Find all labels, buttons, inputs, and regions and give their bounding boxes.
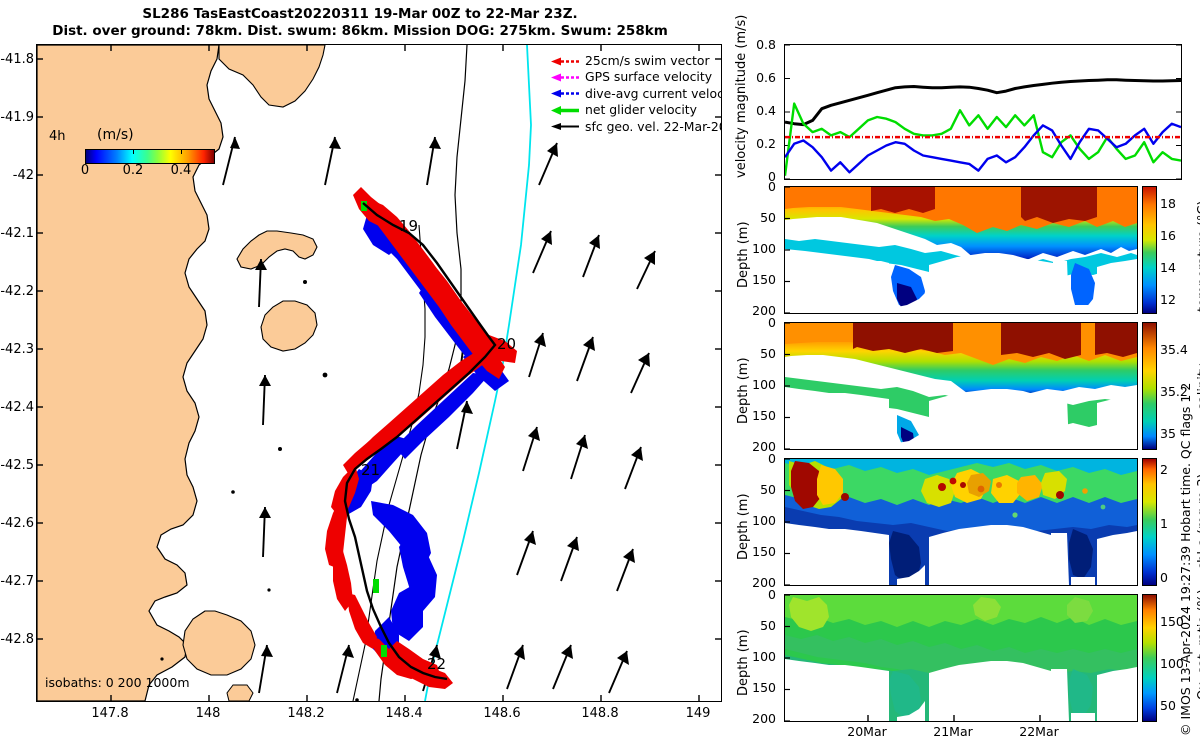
lon-tick-label: 148 xyxy=(178,706,238,721)
temperature-section-plot[interactable] xyxy=(784,186,1138,314)
islet-dot-1 xyxy=(303,280,307,284)
legend-item-swim-vector: 25cm/s swim vector xyxy=(549,53,722,69)
legend-label: sfc geo. vel. 22-Mar-2022 xyxy=(585,119,722,135)
map-cbar-label: 0.4 xyxy=(161,163,201,178)
temperature-colorbar-label: temperature (°C) xyxy=(1196,200,1200,312)
y-tick-label: 0.2 xyxy=(742,136,776,151)
lat-tick-label: -41.9 xyxy=(0,110,34,125)
lat-tick-label: -42.2 xyxy=(0,284,34,299)
y-tick-label: 50 xyxy=(742,210,776,225)
lat-tick-label: -42.4 xyxy=(0,400,34,415)
oxygen-colorbar-label: Ox. sat. ratio (%) xyxy=(1196,589,1200,700)
title-line-1: SL286 TasEastCoast20220311 19-Mar 00Z to… xyxy=(0,6,720,23)
y-tick-label: 0.4 xyxy=(742,103,776,118)
velocity-magnitude-plot[interactable] xyxy=(784,44,1182,180)
temperature-heatmap-canvas xyxy=(785,187,1137,313)
y-tick-label: 150 xyxy=(742,272,776,287)
y-tick-label: 100 xyxy=(742,241,776,256)
legend-label: GPS surface velocity xyxy=(585,69,712,85)
lat-tick-label: -42.7 xyxy=(0,574,34,589)
y-tick-label: 0 xyxy=(742,451,776,466)
legend-item-net-glider-velocity: net glider velocity xyxy=(549,102,722,118)
chlorophyll-section-plot[interactable] xyxy=(784,458,1138,586)
time-scale-label: 4h xyxy=(49,129,66,144)
legend-item-sfc-geo-velocity: sfc geo. vel. 22-Mar-2022 xyxy=(549,119,722,135)
legend-label: net glider velocity xyxy=(585,102,697,118)
lon-tick-label: 148.2 xyxy=(276,706,336,721)
map-colorbar-units: (m/s) xyxy=(97,127,134,143)
y-tick-label: 150 xyxy=(742,680,776,695)
lat-tick-label: -42.6 xyxy=(0,516,34,531)
salinity-colorbar xyxy=(1142,322,1157,450)
isobath-legend: isobaths: 0 200 1000m xyxy=(45,675,190,690)
islet-dot-2 xyxy=(323,373,328,378)
cbar-tick-label: 18 xyxy=(1160,196,1176,211)
chlorophyll-colorbar-label: chl-a (mg m-3) xyxy=(1196,473,1200,570)
chlorophyll-colorbar xyxy=(1142,458,1157,586)
title-line-2: Dist. over ground: 78km. Dist. swum: 86k… xyxy=(0,23,720,40)
map-velocity-colorbar xyxy=(85,149,215,164)
cbar-tick-label: 35 xyxy=(1160,426,1176,441)
map-cbar-label: 0.2 xyxy=(113,163,153,178)
cbar-tick-label: 0 xyxy=(1160,570,1168,585)
map-cbar-label: 0 xyxy=(65,163,105,178)
y-tick-label: 0 xyxy=(742,315,776,330)
islet-dot-6 xyxy=(160,657,163,660)
lat-tick-label: -42.3 xyxy=(0,342,34,357)
sfc-geo-velocity-arrow-icon xyxy=(549,121,581,132)
cbar-tick-label: 12 xyxy=(1160,292,1176,307)
y-tick-label: 200 xyxy=(742,711,776,726)
cbar-tick-label: 1 xyxy=(1160,516,1168,531)
islet-dot-5 xyxy=(267,588,270,591)
lat-tick-label: -42.5 xyxy=(0,458,34,473)
map-canvas: 19 20 21 22 xyxy=(37,45,721,701)
x-tick-label: 20Mar xyxy=(840,724,894,739)
map-cbar-tick xyxy=(85,149,86,154)
figure-title: SL286 TasEastCoast20220311 19-Mar 00Z to… xyxy=(0,6,720,40)
salinity-colorbar-label: salinity xyxy=(1196,363,1200,410)
map-cbar-tick xyxy=(133,149,134,154)
legend-item-gps-surface-velocity: GPS surface velocity xyxy=(549,69,722,85)
lon-tick-label: 148.6 xyxy=(472,706,532,721)
cbar-tick-label: 50 xyxy=(1160,698,1176,713)
islet-dot-3 xyxy=(278,447,282,451)
track-day-label-19: 19 xyxy=(399,217,418,235)
legend-label: dive-avg current veloc. xyxy=(585,86,722,102)
legend-label: 25cm/s swim vector xyxy=(585,53,710,69)
map-cbar-tick xyxy=(181,149,182,154)
land-islet-1 xyxy=(227,685,253,701)
oxygen-section-plot[interactable] xyxy=(784,594,1138,722)
lat-tick-label: -42.1 xyxy=(0,226,34,241)
y-tick-label: 0.6 xyxy=(742,70,776,85)
y-tick-label: 150 xyxy=(742,544,776,559)
net-glider-velocity-arrow-icon xyxy=(549,105,581,116)
track-day-label-22: 22 xyxy=(427,655,446,673)
lon-tick-label: 148.8 xyxy=(570,706,630,721)
legend-item-dive-avg-current: dive-avg current veloc. xyxy=(549,86,722,102)
gps-velocity-arrow-icon xyxy=(549,72,581,83)
oxygen-colorbar xyxy=(1142,594,1157,722)
temperature-colorbar xyxy=(1142,186,1157,314)
y-tick-label: 50 xyxy=(742,346,776,361)
y-tick-label: 0.8 xyxy=(742,37,776,52)
salinity-section-plot[interactable] xyxy=(784,322,1138,450)
map-legend: 25cm/s swim vector GPS surface velocity … xyxy=(549,53,722,135)
salinity-heatmap-canvas xyxy=(785,323,1137,449)
islet-dot-4 xyxy=(231,490,235,494)
x-tick-label: 22Mar xyxy=(1012,724,1066,739)
dive-avg-current-arrow-icon xyxy=(549,88,581,99)
y-tick-label: 50 xyxy=(742,482,776,497)
lat-tick-label: -41.8 xyxy=(0,52,34,67)
cbar-tick-label: 14 xyxy=(1160,260,1176,275)
track-day-label-21: 21 xyxy=(361,461,380,479)
y-tick-label: 100 xyxy=(742,513,776,528)
copyright-notice: © IMOS 13-Apr-2024 19:27:39 Hobart time.… xyxy=(1178,383,1193,736)
y-tick-label: 150 xyxy=(742,408,776,423)
x-tick-label: 21Mar xyxy=(926,724,980,739)
lon-tick-label: 148.4 xyxy=(374,706,434,721)
glider-track-map[interactable]: 19 20 21 22 25cm/s swim vector GPS surfa… xyxy=(36,44,722,702)
cbar-tick-label: 16 xyxy=(1160,228,1176,243)
oxygen-heatmap-canvas xyxy=(785,595,1137,721)
lon-tick-label: 149 xyxy=(668,706,728,721)
y-tick-label: 0 xyxy=(742,179,776,194)
cbar-tick-label: 2 xyxy=(1160,462,1168,477)
lat-tick-label: -42.8 xyxy=(0,632,34,647)
velocity-chart-canvas xyxy=(785,45,1181,179)
track-day-label-20: 20 xyxy=(497,335,516,353)
y-tick-label: 100 xyxy=(742,377,776,392)
y-tick-label: 100 xyxy=(742,649,776,664)
lat-tick-label: -42 xyxy=(0,168,34,183)
cbar-tick-label: 35.4 xyxy=(1160,342,1188,357)
y-tick-label: 50 xyxy=(742,618,776,633)
y-tick-label: 0 xyxy=(742,587,776,602)
chlorophyll-heatmap-canvas xyxy=(785,459,1137,585)
swim-vector-arrow-icon xyxy=(549,56,581,67)
lon-tick-label: 147.8 xyxy=(80,706,140,721)
